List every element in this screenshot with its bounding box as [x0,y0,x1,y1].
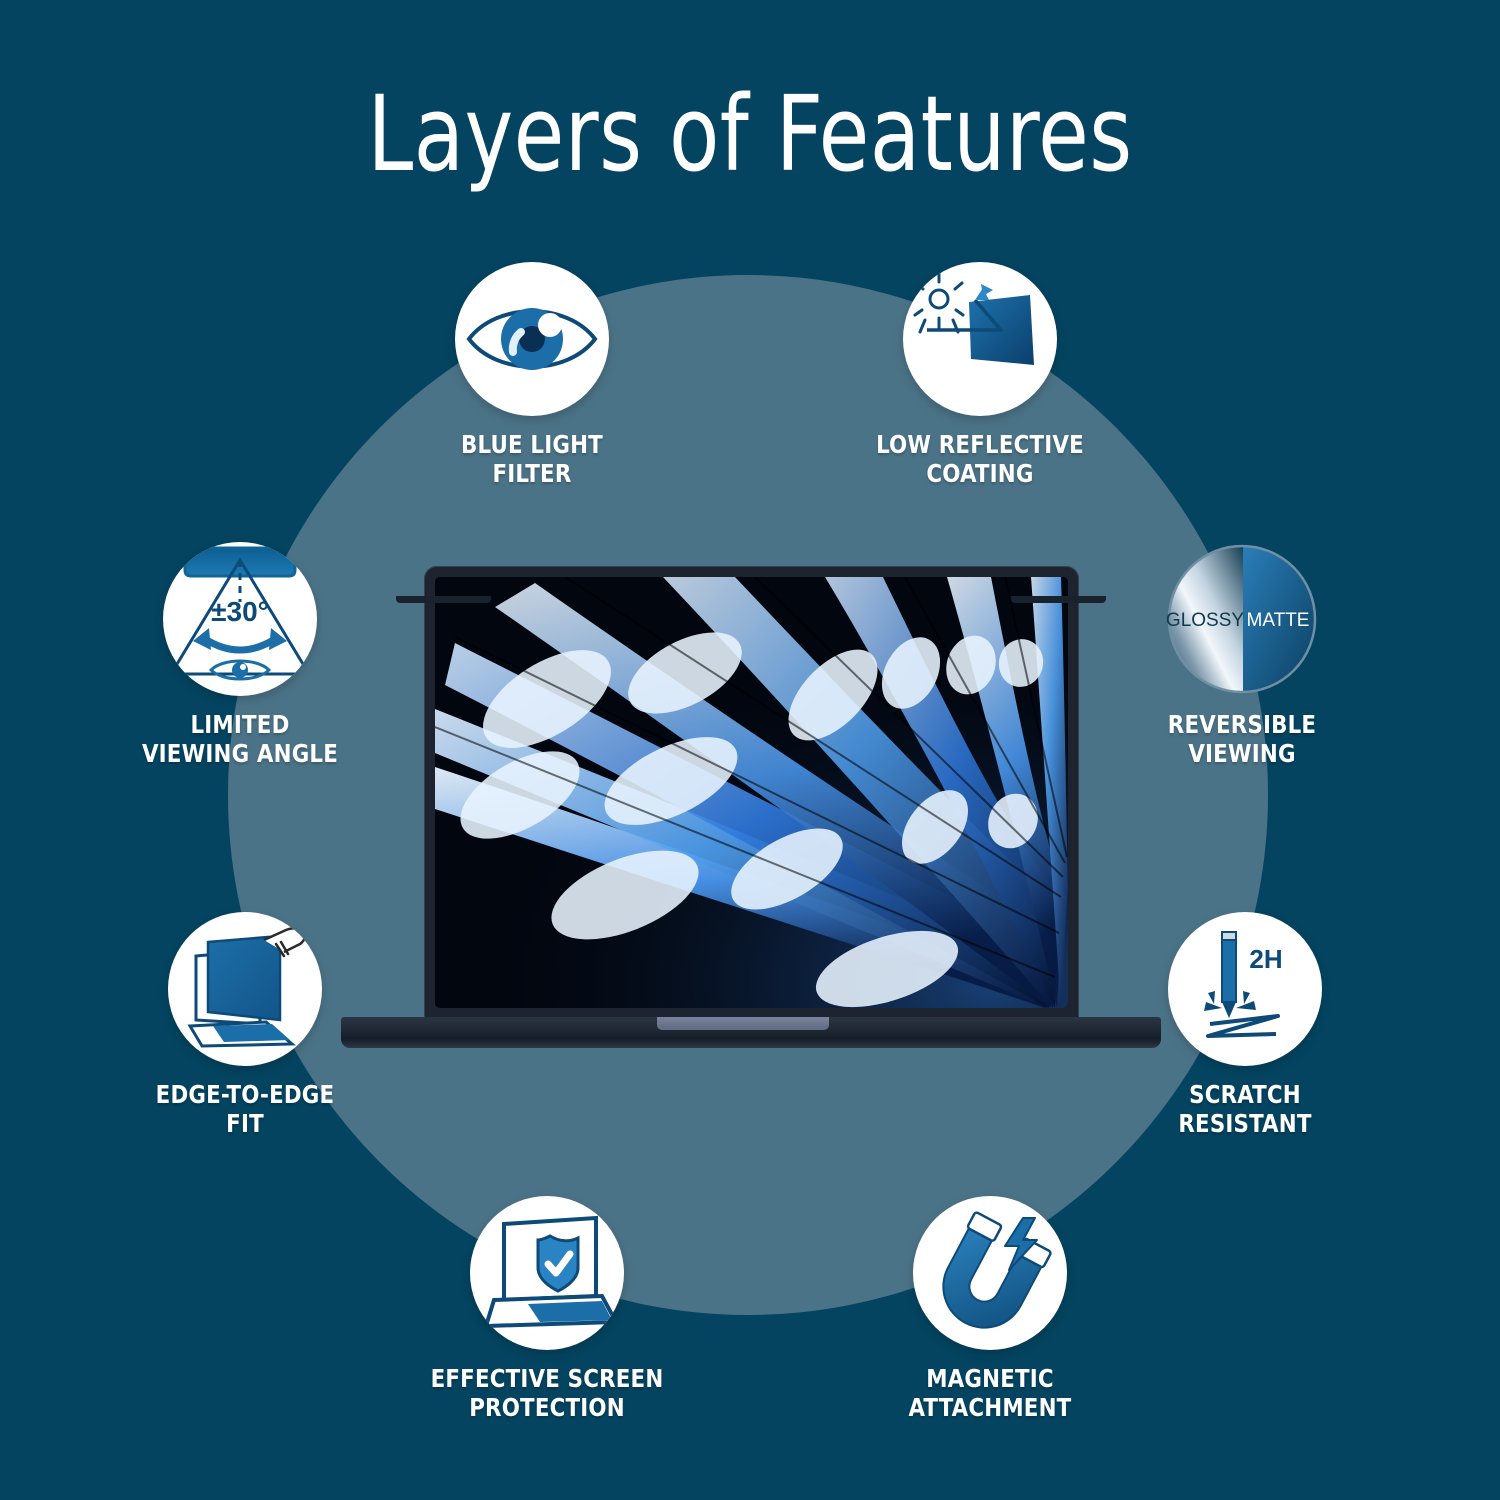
pencil-scratch-icon: 2H [1168,912,1322,1066]
feature-scratch-resistant[interactable]: 2H SCRATCH RESISTANT [1095,912,1395,1138]
magnet-icon [913,1196,1067,1350]
laptop-illustration [341,566,1161,1066]
hand-filter-laptop-icon [168,912,322,1066]
sun-reflection-icon [903,262,1057,416]
laptop-screen [435,577,1068,1008]
blue-ribbon-fan-wallpaper [435,577,1068,1008]
low-reflective-badge [903,262,1057,416]
feature-label: EDGE-TO-EDGE FIT [103,1080,388,1138]
feature-label: LIMITED VIEWING ANGLE [98,710,383,768]
hardness-value: 2H [1249,944,1282,974]
limited-angle-badge: ±30° [163,542,317,696]
feature-label: LOW REFLECTIVE COATING [838,430,1123,488]
infographic-canvas: Layers of Features [0,0,1500,1500]
edge-fit-badge [168,912,322,1066]
feature-label: BLUE LIGHT FILTER [390,430,675,488]
viewing-cone-icon: ±30° [163,542,317,696]
reversible-badge: GLOSSY MATTE [1165,542,1319,696]
eye-icon [455,262,609,416]
blue-light-badge [455,262,609,416]
laptop-shield-icon [470,1196,624,1350]
feature-label: REVERSIBLE VIEWING [1100,710,1385,768]
page-title: Layers of Features [90,78,1410,190]
laptop-foot-left [396,596,491,603]
feature-reversible-viewing[interactable]: GLOSSY MATTE REVERSIBLE VIEWING [1092,542,1392,768]
feature-limited-viewing-angle[interactable]: ±30° LIMITED VIEWING ANGLE [90,542,390,768]
feature-label: SCRATCH RESISTANT [1103,1080,1388,1138]
feature-effective-screen-protection[interactable]: EFFECTIVE SCREEN PROTECTION [397,1196,697,1422]
laptop-lid [424,566,1079,1021]
glossy-label: GLOSSY [1166,610,1244,631]
feature-label: MAGNETIC ATTACHMENT [848,1364,1133,1422]
feature-low-reflective-coating[interactable]: LOW REFLECTIVE COATING [830,262,1130,488]
matte-label: MATTE [1247,610,1310,631]
feature-blue-light-filter[interactable]: BLUE LIGHT FILTER [382,262,682,488]
magnetic-badge [913,1196,1067,1350]
protection-badge [470,1196,624,1350]
laptop-base [341,1017,1161,1048]
feature-label: EFFECTIVE SCREEN PROTECTION [405,1364,690,1422]
glossy-matte-icon: GLOSSY MATTE [1165,542,1319,696]
angle-value: ±30° [211,596,269,627]
feature-edge-to-edge-fit[interactable]: EDGE-TO-EDGE FIT [95,912,395,1138]
feature-magnetic-attachment[interactable]: MAGNETIC ATTACHMENT [840,1196,1140,1422]
scratch-badge: 2H [1168,912,1322,1066]
